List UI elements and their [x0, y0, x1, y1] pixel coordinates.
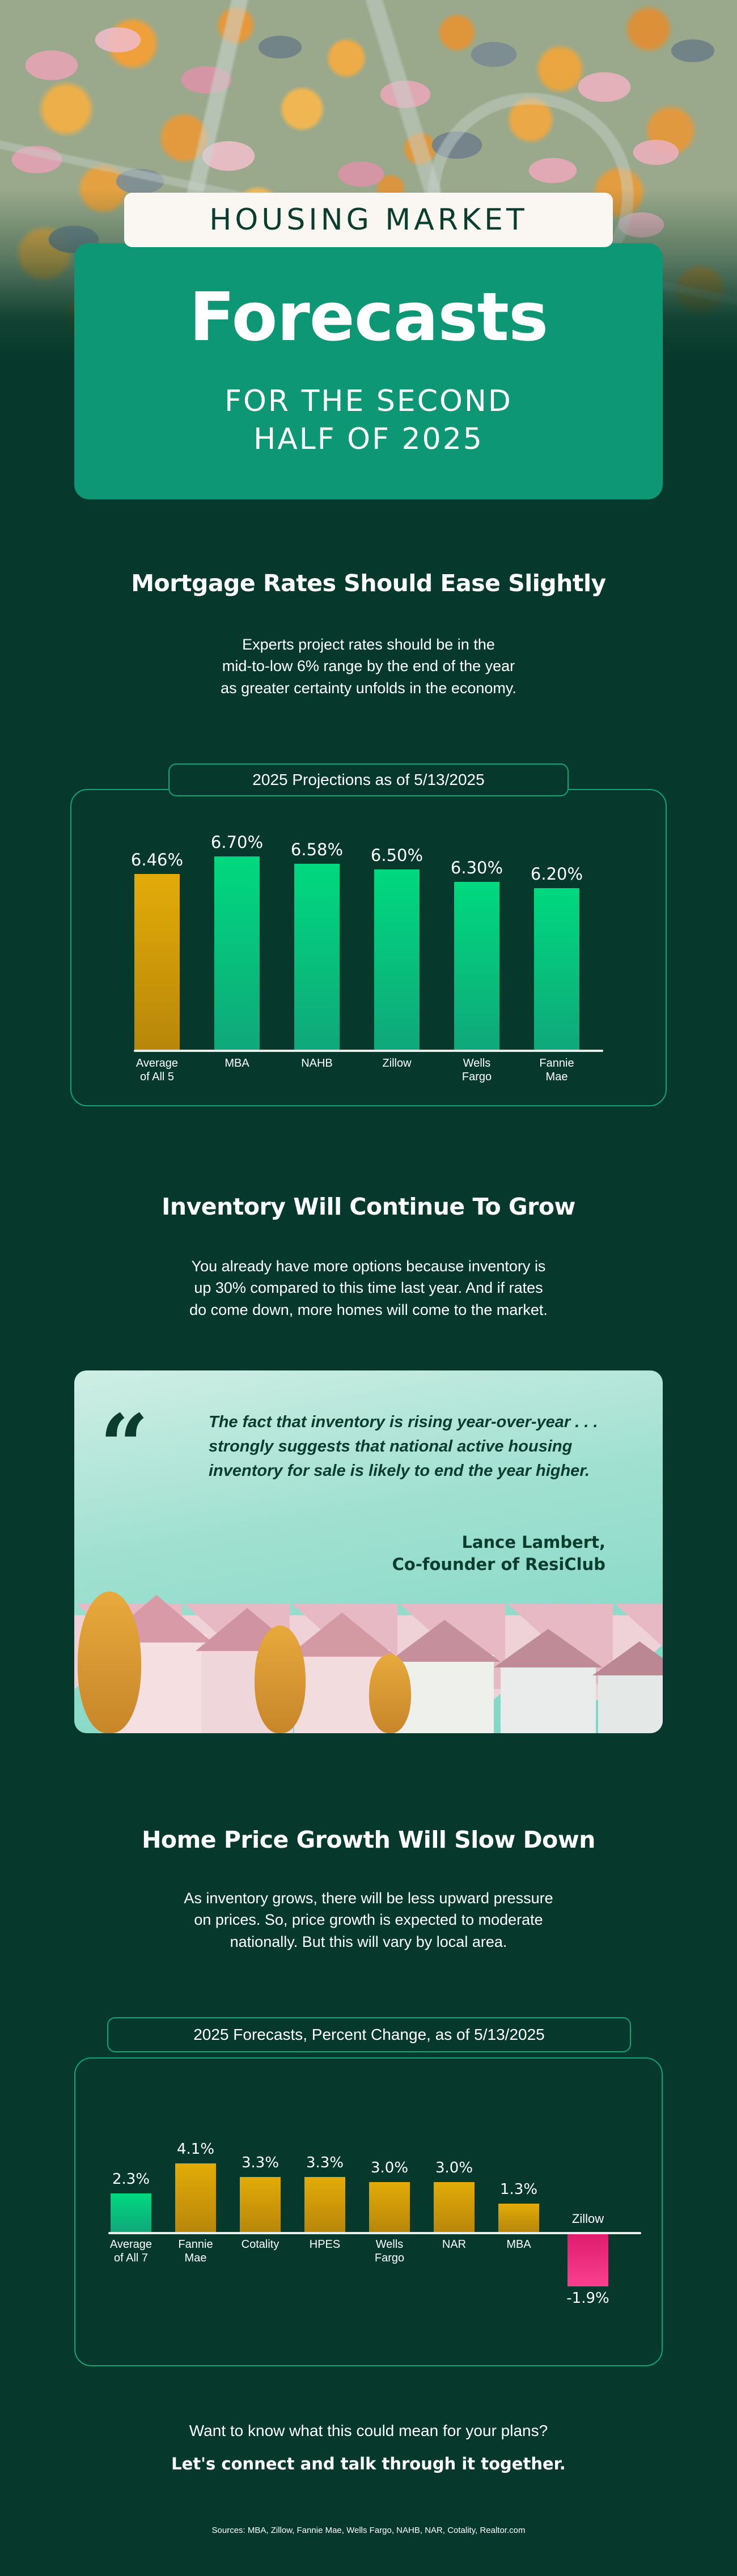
- chart-2-value-0: 2.3%: [80, 2171, 182, 2188]
- chart-1-bar-1: [214, 856, 260, 1050]
- quote-tree-1: [78, 1592, 141, 1733]
- chart-2-bar-4: [369, 2182, 410, 2232]
- section-3-body-line1: As inventory grows, there will be less u…: [0, 1887, 737, 1909]
- page-title: Forecasts: [74, 283, 663, 351]
- chart-2-bar-3: [304, 2177, 345, 2232]
- chart-1-bar-2: [294, 864, 340, 1050]
- section-3-body-line3: nationally. But this will vary by local …: [0, 1931, 737, 1953]
- quote-tree-3: [369, 1654, 411, 1733]
- chart-2-value-7: -1.9%: [537, 2290, 639, 2307]
- chart-2-bar-6: [498, 2204, 539, 2232]
- section-1-body: Experts project rates should be in the m…: [0, 634, 737, 699]
- section-2-body-line2: up 30% compared to this time last year. …: [0, 1277, 737, 1298]
- chart-2-label-7: Zillow: [537, 2212, 639, 2227]
- quote-author-title: Co-founder of ResiClub: [209, 1554, 605, 1576]
- chart-2-value-5: 3.0%: [403, 2159, 505, 2176]
- quote-author: Lance Lambert,: [209, 1531, 605, 1554]
- quote-attribution: Lance Lambert, Co-founder of ResiClub: [209, 1531, 605, 1576]
- chart-2-bar-2: [240, 2177, 281, 2232]
- chart-1-bar-5: [534, 888, 579, 1050]
- eyebrow-pill: HOUSING MARKET: [124, 193, 613, 247]
- chart-2-label-6: MBA: [468, 2238, 570, 2251]
- chart-2-title-pill: 2025 Forecasts, Percent Change, as of 5/…: [107, 2017, 631, 2052]
- chart-2-baseline: [108, 2232, 641, 2234]
- chart-2-title: 2025 Forecasts, Percent Change, as of 5/…: [193, 2026, 545, 2044]
- quote-tree-2: [255, 1626, 306, 1733]
- chart-2-bar-0: [111, 2193, 151, 2232]
- quote-text: The fact that inventory is rising year-o…: [209, 1410, 605, 1483]
- chart-1-baseline: [134, 1050, 603, 1052]
- section-1-body-line2: mid-to-low 6% range by the end of the ye…: [0, 655, 737, 677]
- eyebrow-text: HOUSING MARKET: [209, 203, 527, 237]
- chart-1-title-pill: 2025 Projections as of 5/13/2025: [168, 763, 569, 796]
- page-subtitle: FOR THE SECOND HALF OF 2025: [74, 383, 663, 458]
- section-1-body-line3: as greater certainty unfolds in the econ…: [0, 677, 737, 699]
- section-3-heading: Home Price Growth Will Slow Down: [0, 1826, 737, 1853]
- sources-line: Sources: MBA, Zillow, Fannie Mae, Wells …: [0, 2526, 737, 2535]
- section-3-body-line2: on prices. So, price growth is expected …: [0, 1909, 737, 1930]
- page-subtitle-line1: FOR THE SECOND: [74, 383, 663, 421]
- section-2-body-line1: You already have more options because in…: [0, 1255, 737, 1277]
- chart-2-bar-7: [567, 2234, 608, 2286]
- chart-1-title: 2025 Projections as of 5/13/2025: [252, 771, 484, 789]
- chart-2-value-6: 1.3%: [468, 2181, 570, 2198]
- chart-2-plot: 2.3% Averageof All 7 4.1% FannieMae 3.3%…: [74, 2057, 663, 2366]
- chart-1-value-0: 6.46%: [106, 850, 208, 869]
- quote-open-mark: “: [100, 1403, 149, 1488]
- cta-question: Want to know what this could mean for yo…: [0, 2422, 737, 2440]
- chart-1-bar-4: [454, 882, 499, 1050]
- quote-house-5: [492, 1631, 605, 1733]
- cta-action[interactable]: Let's connect and talk through it togeth…: [0, 2454, 737, 2473]
- section-1-body-line1: Experts project rates should be in the: [0, 634, 737, 655]
- chart-2-bar-1: [175, 2163, 216, 2232]
- chart-1-bar-0: [134, 874, 180, 1050]
- section-2-body-line3: do come down, more homes will come to th…: [0, 1299, 737, 1321]
- chart-1-bar-3: [374, 869, 420, 1050]
- chart-1-value-5: 6.20%: [506, 864, 608, 884]
- quote-house-6: [591, 1643, 663, 1733]
- chart-1-plot: 6.46% Averageof All 5 6.70% MBA 6.58% NA…: [70, 789, 667, 1106]
- section-2-body: You already have more options because in…: [0, 1255, 737, 1321]
- section-2-heading: Inventory Will Continue To Grow: [0, 1193, 737, 1220]
- chart-1-label-5: FannieMae: [506, 1056, 608, 1084]
- page-subtitle-line2: HALF OF 2025: [74, 421, 663, 459]
- section-1-heading: Mortgage Rates Should Ease Slightly: [0, 570, 737, 597]
- section-3-body: As inventory grows, there will be less u…: [0, 1887, 737, 1953]
